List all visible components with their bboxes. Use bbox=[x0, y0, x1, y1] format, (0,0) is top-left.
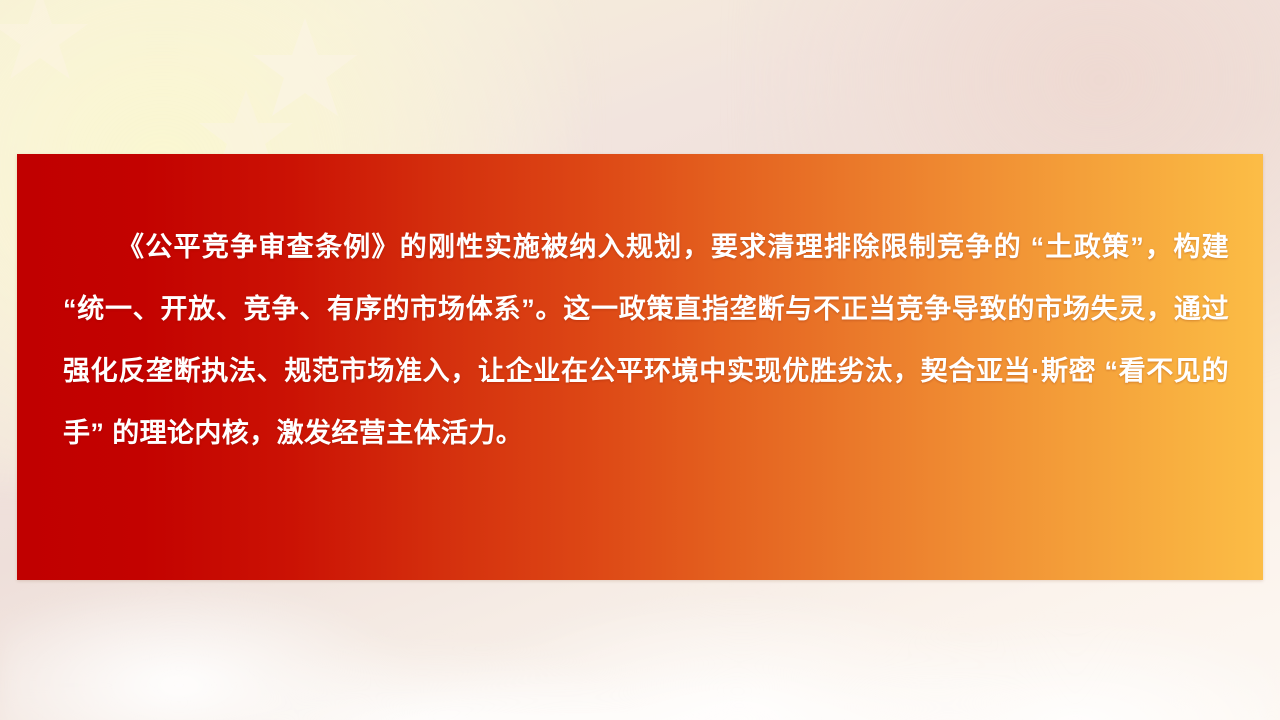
body-paragraph: 《公平竞争审查条例》的刚性实施被纳入规划，要求清理排除限制竞争的 “土政策”，构… bbox=[63, 216, 1229, 464]
star-icon bbox=[0, 0, 88, 79]
star-icon bbox=[253, 18, 357, 116]
slide-canvas: 《公平竞争审查条例》的刚性实施被纳入规划，要求清理排除限制竞争的 “土政策”，构… bbox=[0, 0, 1280, 720]
body-text-block: 《公平竞争审查条例》的刚性实施被纳入规划，要求清理排除限制竞争的 “土政策”，构… bbox=[63, 216, 1229, 464]
content-panel: 《公平竞争审查条例》的刚性实施被纳入规划，要求清理排除限制竞争的 “土政策”，构… bbox=[17, 154, 1263, 580]
